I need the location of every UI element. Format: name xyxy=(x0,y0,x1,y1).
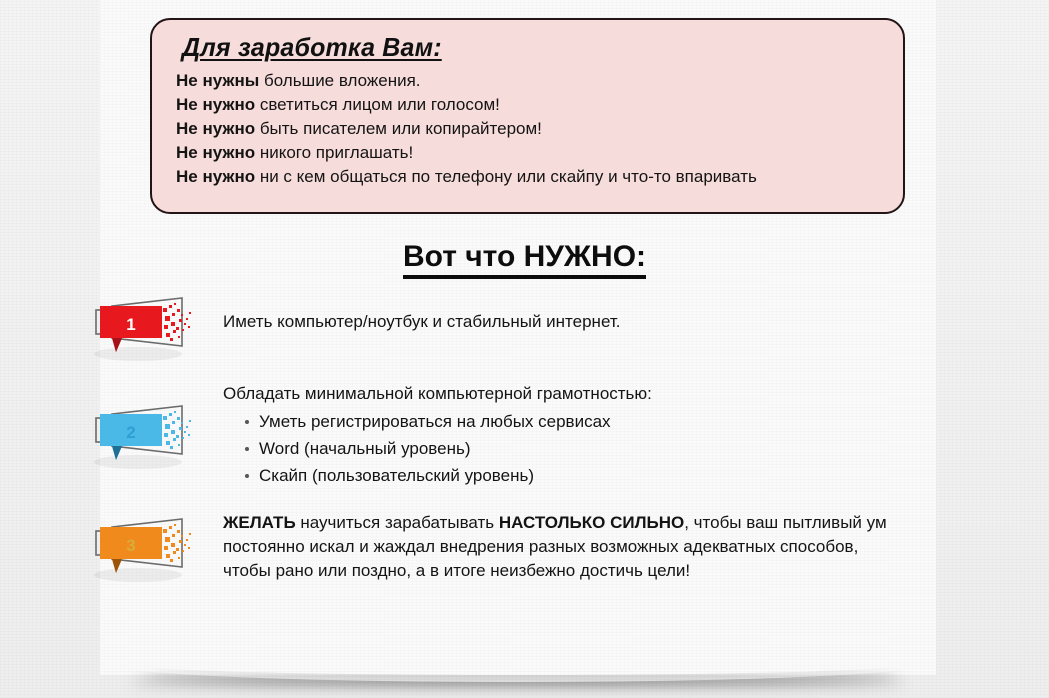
callout-line-3: Не нужно быть писателем или копирайтером… xyxy=(176,117,885,141)
numbered-flag-icon-2: 2 xyxy=(86,400,206,470)
step-3-text: ЖЕЛАТЬ научиться зарабатывать НАСТОЛЬКО … xyxy=(223,511,893,583)
callout-title: Для заработка Вам: xyxy=(182,32,442,63)
numbered-flag-icon-1: 1 xyxy=(86,292,206,362)
step-1-number: 1 xyxy=(126,315,135,334)
section-heading: Вот что НУЖНО: xyxy=(0,240,1049,279)
callout-box: Для заработка Вам: Не нужны большие влож… xyxy=(150,18,905,214)
paper-sheet-shadow-inner xyxy=(140,655,900,675)
callout-line-3-rest: быть писателем или копирайтером! xyxy=(255,119,542,138)
callout-line-2-bold: Не нужно xyxy=(176,95,255,114)
callout-line-4: Не нужно никого приглашать! xyxy=(176,141,885,165)
callout-line-2-rest: светиться лицом или голосом! xyxy=(255,95,500,114)
callout-line-5-bold: Не нужно xyxy=(176,167,255,186)
step-3-number: 3 xyxy=(126,536,135,555)
callout-line-1: Не нужны большие вложения. xyxy=(176,69,885,93)
callout-line-5: Не нужно ни с кем общаться по телефону и… xyxy=(176,165,885,189)
step-3-part-2: научиться зарабатывать xyxy=(296,513,499,532)
section-heading-text: Вот что НУЖНО: xyxy=(403,240,646,279)
step-1-icon-wrap: 1 xyxy=(86,292,206,362)
step-item-2: 2 Обладать минимальной компьютерной грам… xyxy=(86,378,986,489)
step-2-icon-wrap: 2 xyxy=(86,400,206,470)
callout-line-4-bold: Не нужно xyxy=(176,143,255,162)
callout-line-3-bold: Не нужно xyxy=(176,119,255,138)
callout-line-1-bold: Не нужны xyxy=(176,71,259,90)
page-root: Для заработка Вам: Не нужны большие влож… xyxy=(0,0,1049,698)
step-3-body: ЖЕЛАТЬ научиться зарабатывать НАСТОЛЬКО … xyxy=(223,505,893,583)
step-2-body: Обладать минимальной компьютерной грамот… xyxy=(223,378,986,489)
step-2-sub-item-2: Word (начальный уровень) xyxy=(223,435,986,462)
callout-line-5-rest: ни с кем общаться по телефону или скайпу… xyxy=(255,167,757,186)
step-1-text: Иметь компьютер/ноутбук и стабильный инт… xyxy=(223,310,986,334)
step-2-sub-item-3: Скайп (пользовательский уровень) xyxy=(223,462,986,489)
numbered-flag-icon-3: 3 xyxy=(86,513,206,583)
step-2-sub-item-1: Уметь регистрироваться на любых сервисах xyxy=(223,408,986,435)
step-2-sub-list: Уметь регистрироваться на любых сервисах… xyxy=(223,408,986,489)
step-item-3: 3 ЖЕЛАТЬ научиться зарабатывать НАСТОЛЬК… xyxy=(86,505,986,583)
callout-line-1-rest: большие вложения. xyxy=(259,71,420,90)
step-item-1: 1 Иметь компьютер/ноутбук и стабильный и… xyxy=(86,292,986,334)
callout-line-2: Не нужно светиться лицом или голосом! xyxy=(176,93,885,117)
step-3-icon-wrap: 3 xyxy=(86,513,206,583)
callout-line-4-rest: никого приглашать! xyxy=(255,143,413,162)
step-3-part-1: ЖЕЛАТЬ xyxy=(223,513,296,532)
step-3-part-3: НАСТОЛЬКО СИЛЬНО xyxy=(499,513,684,532)
step-1-body: Иметь компьютер/ноутбук и стабильный инт… xyxy=(223,292,986,334)
step-2-number: 2 xyxy=(126,423,135,442)
step-2-text: Обладать минимальной компьютерной грамот… xyxy=(223,382,986,406)
